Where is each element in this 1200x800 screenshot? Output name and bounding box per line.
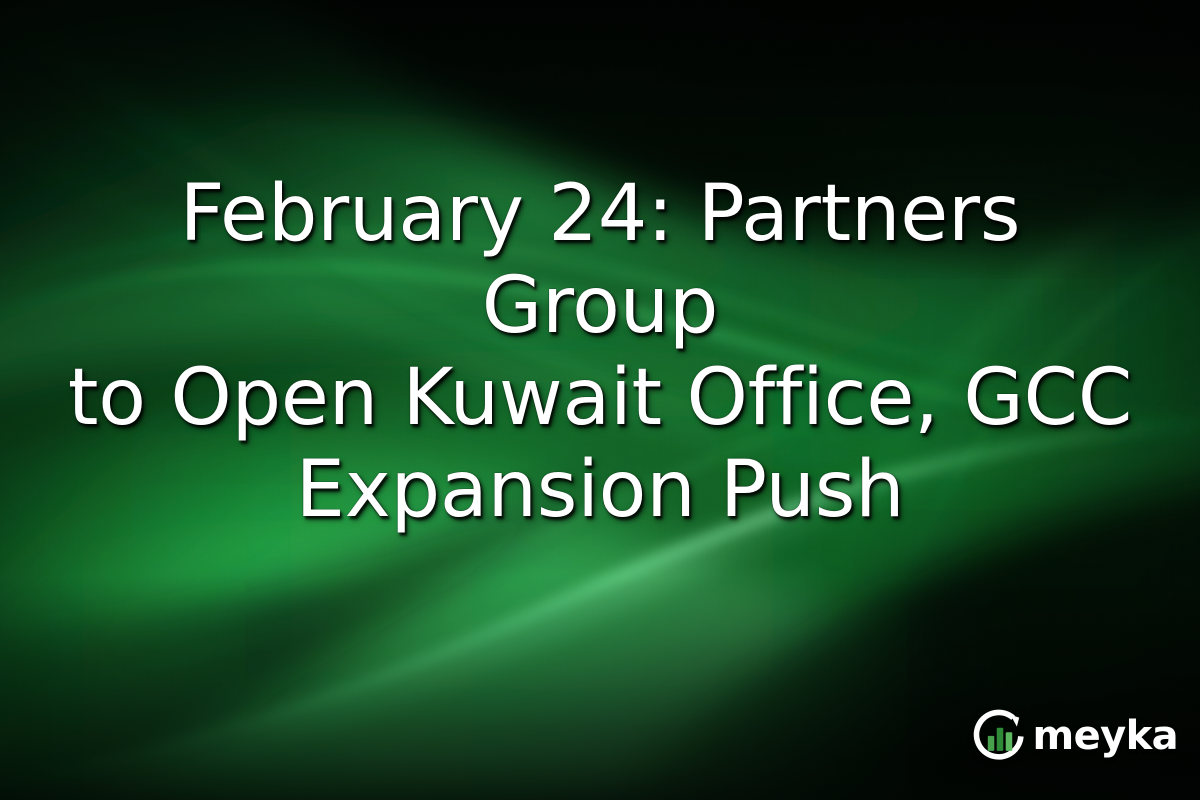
brand-wordmark: meyka: [1033, 716, 1178, 756]
glow-blob-bottom-left: [0, 520, 720, 800]
logo-arrow-tick: [1010, 715, 1019, 727]
meyka-logo-icon: [971, 706, 1029, 764]
logo-bar-2: [996, 728, 1003, 751]
logo-bar-1: [987, 736, 994, 751]
logo-bar-3: [1005, 732, 1012, 751]
card-headline: February 24: Partners Group to Open Kuwa…: [60, 168, 1140, 536]
brand-lockup[interactable]: meyka: [971, 706, 1178, 764]
news-card: February 24: Partners Group to Open Kuwa…: [0, 0, 1200, 800]
